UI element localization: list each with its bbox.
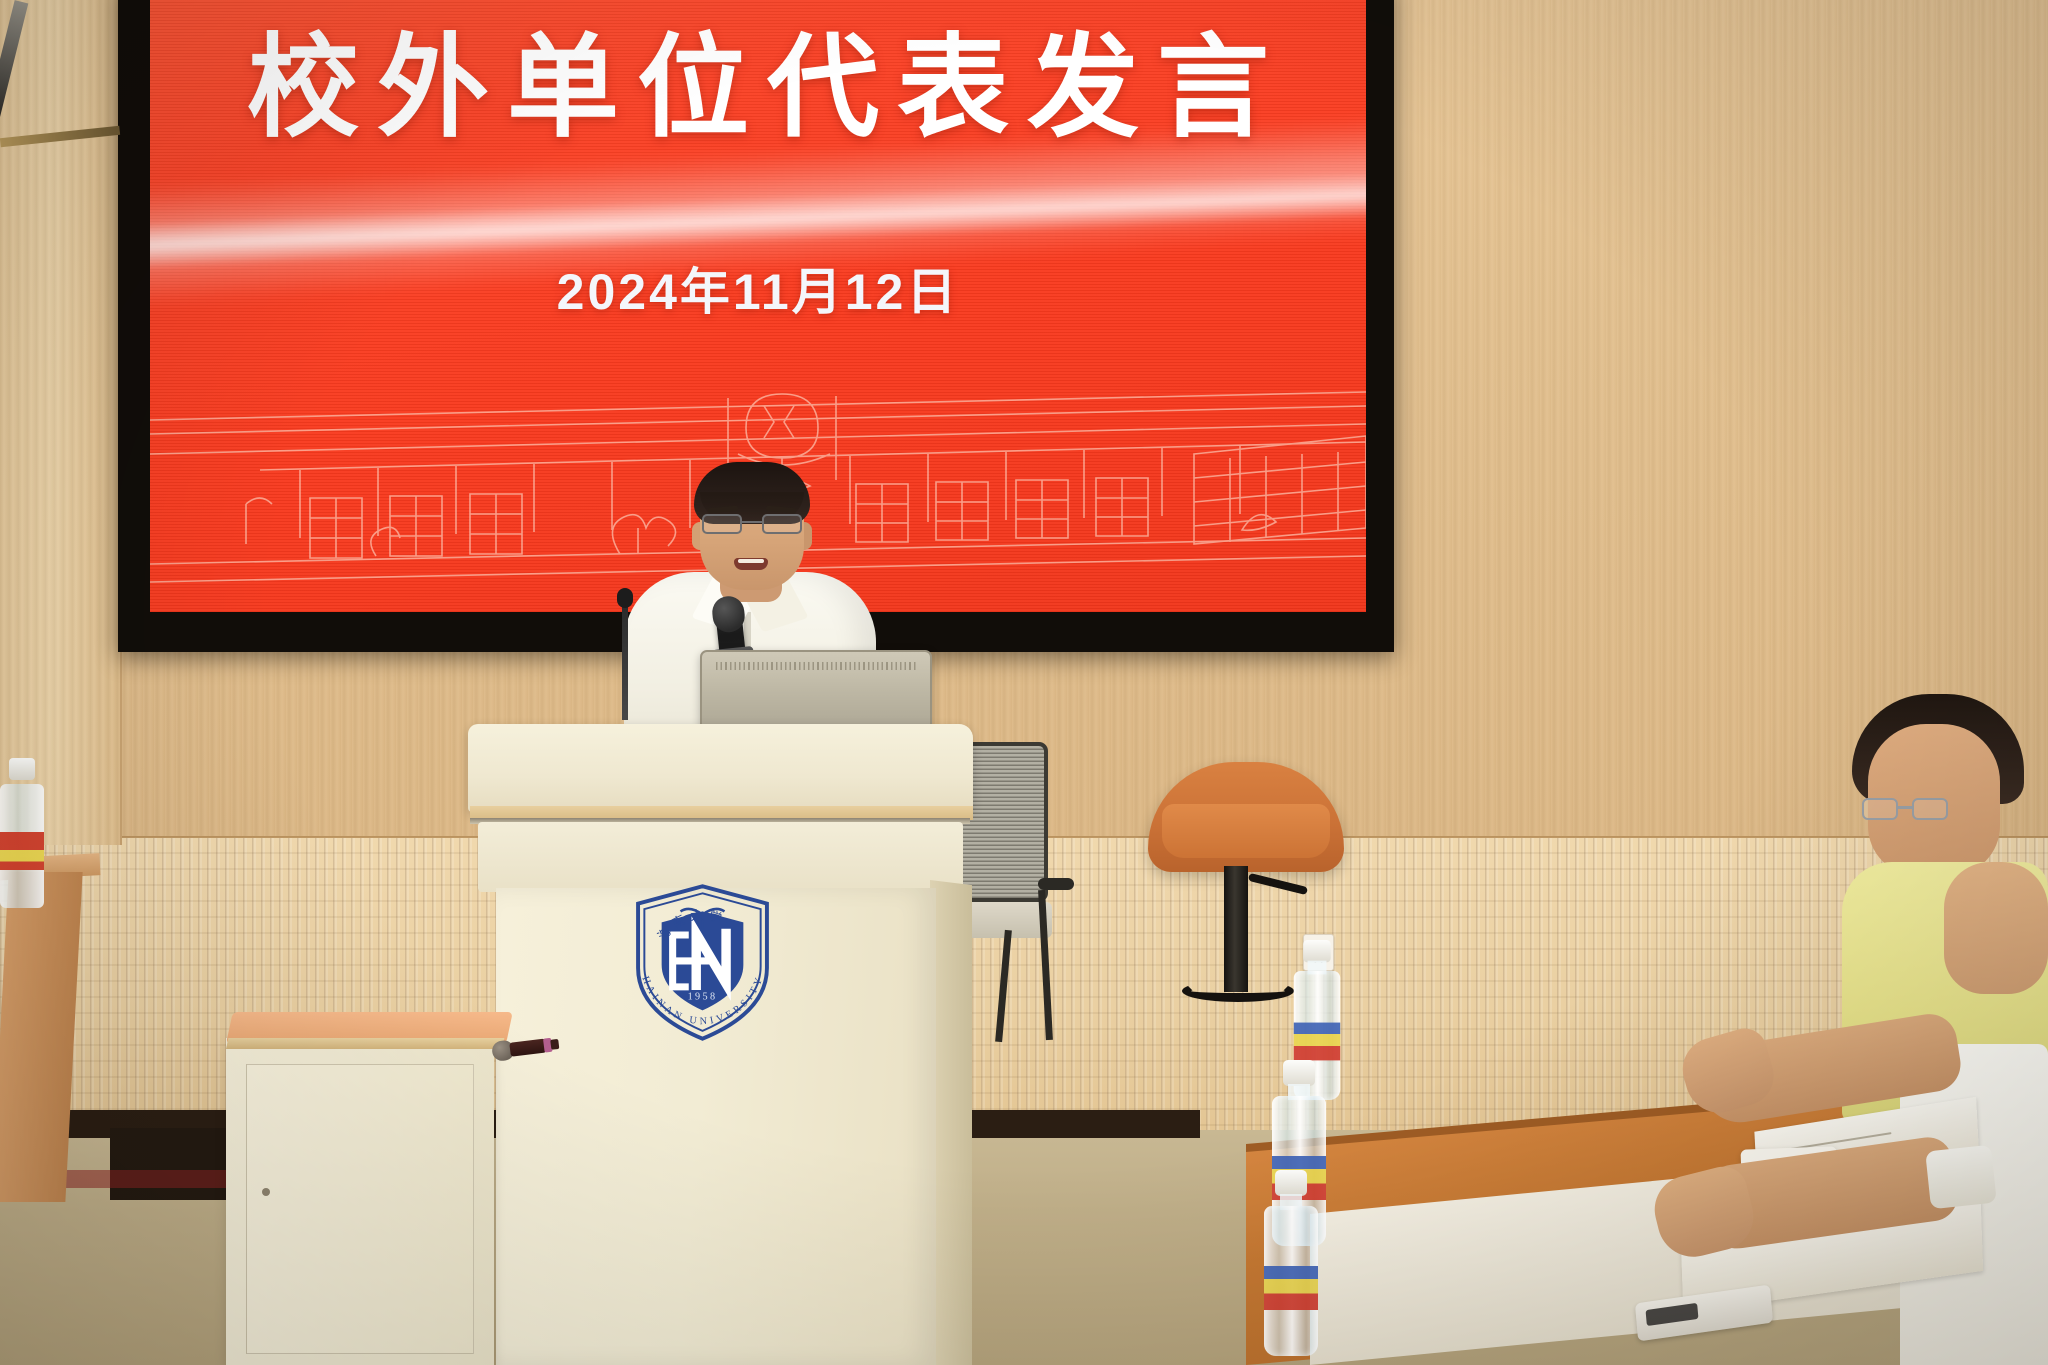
banner-date: 2024年11月12日 bbox=[150, 252, 1366, 324]
attendee-b-cuff bbox=[1925, 1145, 1997, 1210]
stool-post bbox=[1224, 866, 1248, 992]
gooseneck-microphone-icon bbox=[622, 600, 628, 720]
eyeglasses-icon bbox=[702, 514, 802, 536]
eyeglasses-icon bbox=[1862, 798, 1948, 822]
podium-side-face bbox=[930, 880, 972, 1365]
cabinet-knob[interactable] bbox=[262, 1188, 270, 1196]
mesh-office-chair-armrest bbox=[1038, 878, 1074, 890]
svg-text:1958: 1958 bbox=[688, 991, 718, 1002]
attendee-b-head bbox=[1944, 862, 2048, 994]
monitor-vents bbox=[716, 662, 916, 670]
hainan-university-crest-logo: 1958 海南大学 HAINAN UNIVERSITY bbox=[620, 880, 785, 1045]
conference-hall-scene: 校外单位代表发言 2024年11月12日 bbox=[0, 0, 2048, 1365]
side-cabinet-lip bbox=[226, 1038, 504, 1049]
side-cabinet-door[interactable] bbox=[246, 1064, 474, 1354]
speaker-mouth bbox=[734, 558, 768, 570]
podium-top bbox=[468, 724, 973, 812]
stool-base-ring bbox=[1182, 980, 1294, 1002]
banner-title: 校外单位代表发言 bbox=[150, 28, 1366, 149]
